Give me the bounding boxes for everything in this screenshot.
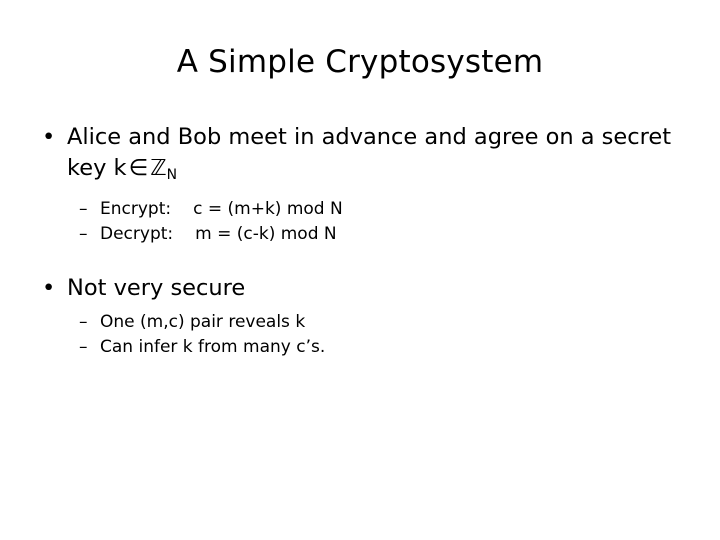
bullet-text-line-1: Alice and Bob meet in advance and agree … <box>67 124 671 150</box>
page-title: A Simple Cryptosystem <box>50 44 670 81</box>
sub-bullet-item-encrypt: – Encrypt:c = (m+k) mod N <box>0 197 720 222</box>
integers-set-symbol: ℤ <box>150 156 166 181</box>
bullet-dot-icon: • <box>42 122 55 153</box>
sub-bullet-item-infer-k: – Can infer k from many c’s. <box>0 335 720 360</box>
sub-bullet-item-decrypt: – Decrypt:m = (c-k) mod N <box>0 222 720 247</box>
element-of-icon: ∈ <box>127 155 151 181</box>
sub-bullet-text-pair-reveals-k: One (m,c) pair reveals k <box>100 312 305 332</box>
blank-line-spacer <box>0 247 720 273</box>
bullet-dash-icon: – <box>79 310 88 335</box>
bullet-dot-icon: • <box>42 273 55 304</box>
bullet-text-not-very-secure: Not very secure <box>67 275 245 301</box>
sub-bullet-label-decrypt: Decrypt: <box>100 224 173 244</box>
sub-bullet-label-encrypt: Encrypt: <box>100 199 171 219</box>
bullet-dash-icon: – <box>79 335 88 360</box>
integers-set-subscript: N <box>167 167 178 183</box>
slide-canvas: A Simple Cryptosystem • Alice and Bob me… <box>0 0 720 540</box>
slide-body: • Alice and Bob meet in advance and agre… <box>0 122 720 360</box>
bullet-dash-icon: – <box>79 197 88 222</box>
bullet-item-secret-key: • Alice and Bob meet in advance and agre… <box>0 122 720 191</box>
bullet-dash-icon: – <box>79 222 88 247</box>
sub-bullet-formula-decrypt: m = (c-k) mod N <box>195 224 336 244</box>
bullet-item-not-very-secure: • Not very secure <box>0 273 720 304</box>
sub-bullet-item-pair-reveals-k: – One (m,c) pair reveals k <box>0 310 720 335</box>
sub-bullet-text-infer-k: Can infer k from many c’s. <box>100 337 325 357</box>
bullet-text-line-2: key k <box>67 155 127 181</box>
sub-bullet-formula-encrypt: c = (m+k) mod N <box>193 199 343 219</box>
